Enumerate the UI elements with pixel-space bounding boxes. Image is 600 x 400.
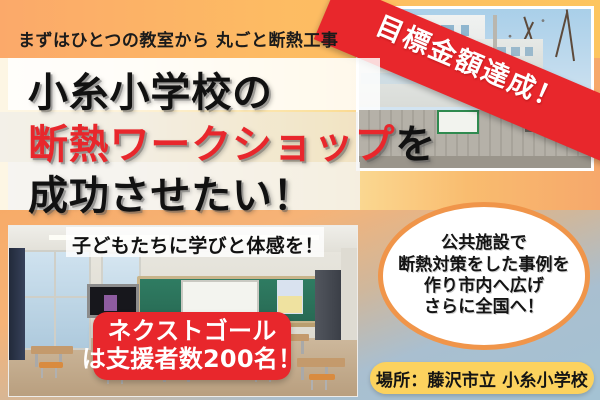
oval-line-1: 公共施設で (441, 233, 527, 254)
storage-cabinet (315, 270, 341, 340)
oval-line-3: 作り市内へ広げ (424, 276, 544, 297)
next-goal-line-1: ネクストゴール (108, 318, 277, 346)
location-label: 場所：藤沢市立 小糸小学校 (376, 366, 588, 391)
wall-poster (277, 280, 303, 314)
headline-line-2-red: 断熱ワークショップ (28, 122, 395, 168)
notice-board (437, 110, 479, 134)
classroom-window (17, 250, 91, 350)
next-goal-line-2: は支援者数200名！ (82, 346, 303, 374)
oval-line-4: さらに全国へ！ (424, 297, 544, 318)
location-bar: 場所：藤沢市立 小糸小学校 (370, 362, 594, 394)
mission-oval: 公共施設で 断熱対策をした事例を 作り市内へ広げ さらに全国へ！ (378, 202, 590, 350)
next-goal-box: ネクストゴール は支援者数200名！ (93, 312, 291, 380)
student-chair (309, 374, 335, 380)
sub-caption: 子どもたちに学びと体感を！ (72, 231, 324, 258)
student-chair (39, 362, 63, 368)
oval-line-2: 断熱対策をした事例を (398, 255, 570, 276)
student-desk (297, 358, 345, 367)
student-desk (31, 346, 73, 354)
tagline: まずはひとつの教室から 丸ごと断熱工事 (18, 26, 338, 51)
headline-line-2: 断熱ワークショップを (28, 112, 436, 170)
right-wall (341, 248, 357, 340)
headline-line-2-black: を (395, 122, 436, 168)
headline-line-1: 小糸小学校の (28, 60, 273, 118)
campaign-banner: 目標金額達成！ まずはひとつの教室から 丸ごと断熱工事 小糸小学校の 断熱ワーク… (0, 0, 600, 400)
window-curtain (9, 248, 25, 360)
headline-line-3: 成功させたい！ (28, 163, 314, 221)
